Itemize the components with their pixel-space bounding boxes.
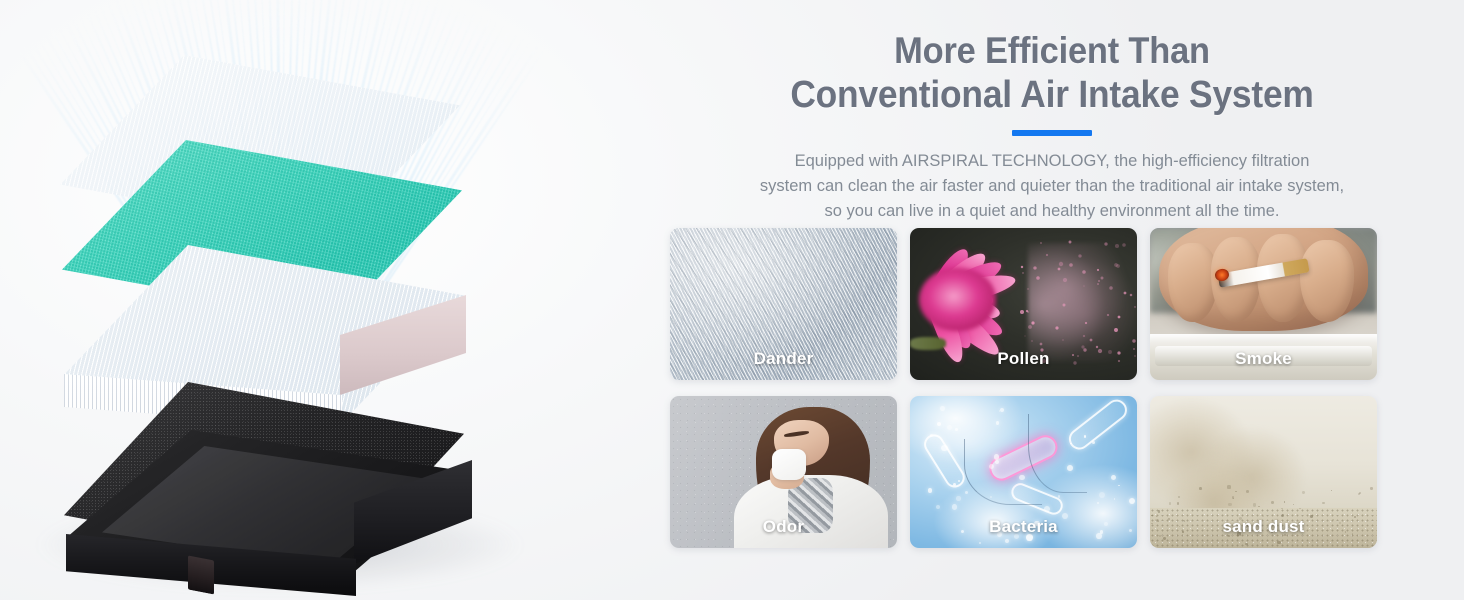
tile-odor[interactable]: Odor xyxy=(670,396,897,548)
product-feature-banner: More Efficient Than Conventional Air Int… xyxy=(0,0,1464,600)
subcopy-line-3: so you can live in a quiet and healthy e… xyxy=(682,199,1422,224)
product-illustration xyxy=(0,0,640,600)
tile-smoke[interactable]: Smoke xyxy=(1150,228,1377,380)
tile-bacteria[interactable]: Bacteria xyxy=(910,396,1137,548)
tile-label: Odor xyxy=(670,517,897,537)
tile-pollen[interactable]: Pollen xyxy=(910,228,1137,380)
tile-label: Smoke xyxy=(1150,349,1377,369)
marketing-content: More Efficient Than Conventional Air Int… xyxy=(640,0,1464,600)
headline-line-2: Conventional Air Intake System xyxy=(669,73,1435,117)
tile-label: Pollen xyxy=(910,349,1137,369)
tile-label: sand dust xyxy=(1150,517,1377,537)
subcopy-line-1: Equipped with AIRSPIRAL TECHNOLOGY, the … xyxy=(682,149,1422,174)
subcopy-line-2: system can clean the air faster and quie… xyxy=(682,174,1422,199)
tile-label: Dander xyxy=(670,349,897,369)
tile-dander[interactable]: Dander xyxy=(670,228,897,380)
base-pull-tab xyxy=(188,555,214,594)
subheading-paragraph: Equipped with AIRSPIRAL TECHNOLOGY, the … xyxy=(682,149,1422,224)
tile-sand-dust[interactable]: sand dust xyxy=(1150,396,1377,548)
page-title: More Efficient Than Conventional Air Int… xyxy=(669,30,1435,117)
headline-line-1: More Efficient Than xyxy=(669,30,1435,73)
tile-label: Bacteria xyxy=(910,517,1137,537)
accent-divider xyxy=(1012,130,1092,136)
base-housing xyxy=(58,430,478,590)
pollutant-tile-grid: Dander Pollen xyxy=(670,228,1396,548)
